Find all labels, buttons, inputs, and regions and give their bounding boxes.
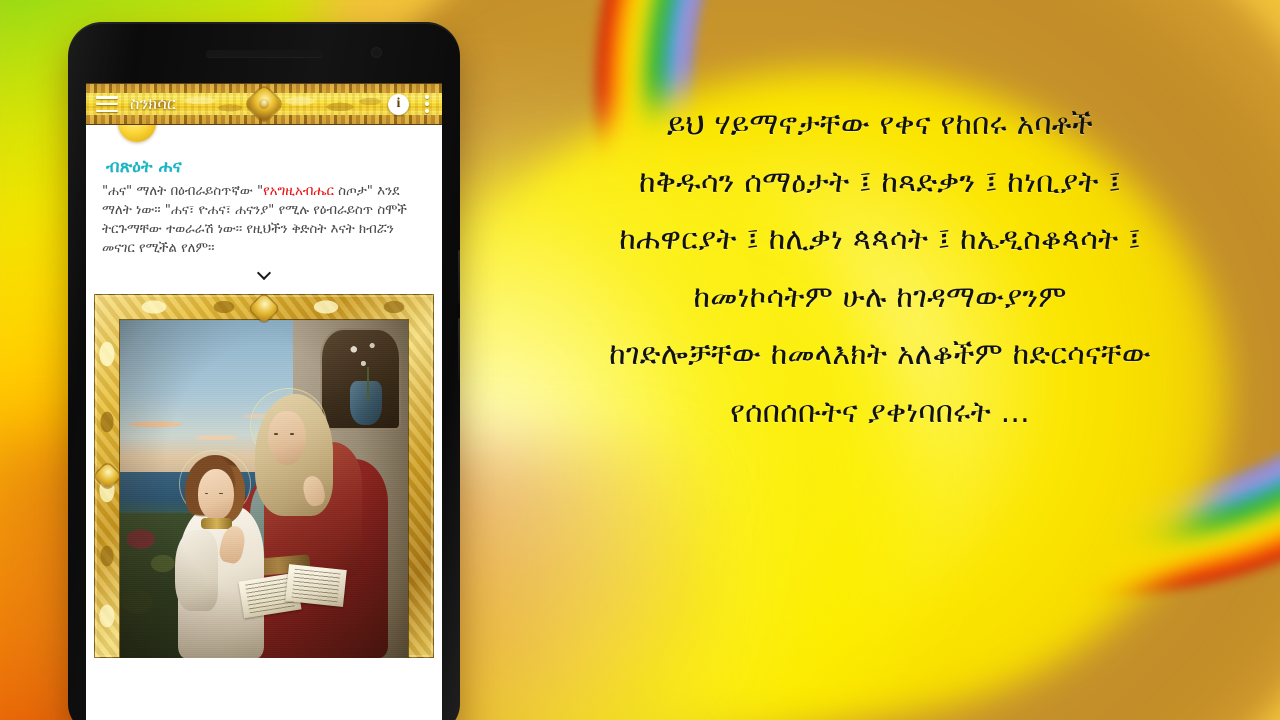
app-content-scroll[interactable]: ብጽዕት ሐና "ሐና" ማለት በዕብራይስጥኛው "የአግዚአብሔር ስጦታ…: [86, 125, 442, 720]
painting-grain: [120, 320, 408, 658]
earpiece-speaker-icon: [206, 50, 322, 57]
power-button[interactable]: [458, 318, 460, 380]
promo-text-line: ከቅዱሳን ሰማዕታት ፤ ከጻድቃን ፤ ከነቢያት ፤: [500, 154, 1260, 212]
painting-image: [120, 320, 408, 658]
promo-text-line: ከሐዋርያት ፤ ከሊቃነ ጳጳሳት ፤ ከኤዲስቆጳሳት ፤: [500, 211, 1260, 269]
article-card: ብጽዕት ሐና "ሐና" ማለት በዕብራይስጥኛው "የአግዚአብሔር ስጦታ…: [92, 125, 436, 720]
overflow-dot: [425, 109, 429, 113]
promo-text-line: ከመነኮሳትም ሁሉ ከገዳማውያንም: [500, 269, 1260, 327]
hamburger-line: [96, 96, 118, 99]
chevron-down-icon: [258, 267, 271, 280]
framed-painting-container[interactable]: [94, 294, 434, 658]
appbar-scroll-ornament-right: [278, 92, 386, 116]
promo-text-line: ከገድሎቻቸው ከመላእክት አለቆችም ከድርሳናቸው: [500, 326, 1260, 384]
promo-overlay-text: ይህ ሃይማኖታቸው የቀና የከበሩ አባቶች ከቅዱሳን ሰማዕታት ፤ ከ…: [500, 96, 1260, 442]
phone-mockup: ስንክሳር i ብጽዕት ሐና "ሐና" ማለት በዕብራይስጥኛው "የአግዚ…: [68, 22, 460, 720]
overflow-dot: [425, 95, 429, 99]
article-body: "ሐና" ማለት በዕብራይስጥኛው "የአግዚአብሔር ስጦታ" እንደ ማለ…: [92, 177, 436, 258]
appbar-actions: i: [388, 94, 435, 115]
overflow-dot: [425, 102, 429, 106]
volume-button[interactable]: [458, 250, 460, 304]
front-camera-icon: [371, 47, 382, 58]
hamburger-menu-icon[interactable]: [96, 96, 118, 112]
overflow-menu-icon[interactable]: [419, 94, 435, 115]
phone-screen: ስንክሳር i ብጽዕት ሐና "ሐና" ማለት በዕብራይስጥኛው "የአግዚ…: [86, 83, 442, 720]
app-bar: ስንክሳር i: [86, 83, 442, 125]
expand-article-button[interactable]: [92, 260, 436, 286]
hamburger-line: [96, 110, 118, 113]
promo-text-line: ይህ ሃይማኖታቸው የቀና የከበሩ አባቶች: [500, 96, 1260, 154]
info-icon[interactable]: i: [388, 94, 409, 115]
article-body-part1: "ሐና" ማለት በዕብራይስጥኛው ": [102, 184, 263, 199]
hamburger-line: [96, 103, 118, 106]
promo-text-line: የሰበሰቡትና ያቀነባበሩት ...: [500, 384, 1260, 442]
app-title: ስንክሳር: [130, 94, 176, 114]
article-body-highlight: የአግዚአብሔር: [263, 184, 334, 199]
